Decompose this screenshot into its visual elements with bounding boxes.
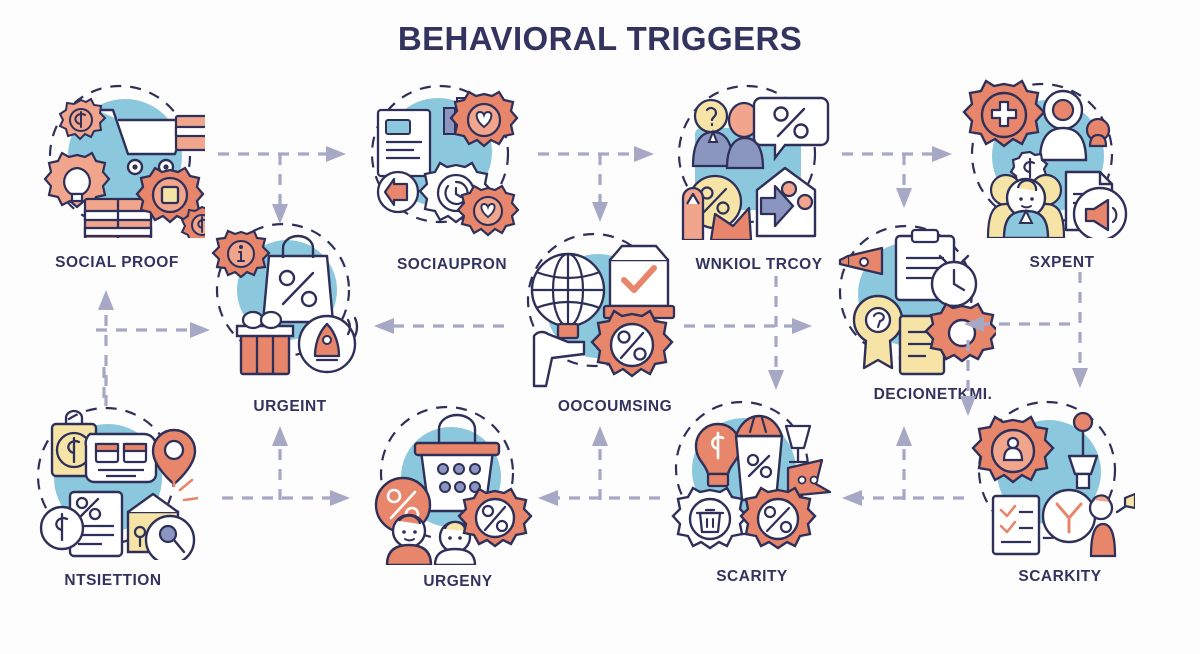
infographic-canvas: BEHAVIORAL TRIGGERS: [0, 0, 1200, 654]
node-social-proof[interactable]: SOCIAL PROOF: [35, 78, 205, 238]
gear-person-doc-axe-icon: [965, 400, 1135, 560]
node-label: URGENY: [343, 573, 573, 591]
node-ntsiettion[interactable]: NTSIETTION: [28, 400, 198, 560]
basket-percent-people-icon: [365, 405, 535, 565]
arrow-decionetkmi-to-right-left: [962, 316, 1072, 332]
node-label: NTSIETTION: [0, 572, 228, 590]
arrow-row1-down-to-decionetkmi: [896, 154, 912, 210]
arrow-sxpent-down: [1072, 272, 1088, 390]
bulb-cart-percent-gear-icon: [662, 400, 832, 560]
arrow-scarkity-up: [896, 424, 912, 502]
node-urgeny[interactable]: URGENY: [365, 405, 535, 565]
document-heart-gear-icon: [360, 80, 530, 240]
arrow-urgeny-up: [272, 424, 288, 502]
node-sociaupron[interactable]: SOCIAUPRON: [360, 80, 530, 240]
node-scarkity[interactable]: SCARKITY: [965, 400, 1135, 560]
arrow-ntsiettion-up: [96, 352, 112, 400]
cart-gears-money-icon: [35, 78, 205, 238]
wallet-card-pin-receipt-icon: [28, 400, 198, 560]
gear-person-megaphone-icon: [960, 78, 1130, 238]
node-label: SCARITY: [637, 568, 867, 586]
node-label: SOCIAL PROOF: [2, 254, 232, 272]
node-urgeint[interactable]: URGEINT: [205, 222, 375, 382]
node-label: SCARKITY: [945, 568, 1175, 586]
arrow-oocoumsing-to-urgeint: [372, 318, 506, 334]
arrow-into-urgeint-right: [96, 322, 212, 338]
node-scarity[interactable]: SCARITY: [662, 400, 832, 560]
node-oocoumsing[interactable]: OOCOUMSING: [512, 228, 682, 388]
node-wnkioltrcoy[interactable]: WNKIOL TRCOY: [665, 80, 835, 240]
people-percent-speech-icon: [665, 80, 835, 240]
node-sxpent[interactable]: SXPENT: [960, 78, 1130, 238]
arrow-oocoumsing-up: [768, 276, 784, 392]
arrow-row1-down-to-oocoumsing: [592, 154, 608, 224]
page-title: BEHAVIORAL TRIGGERS: [0, 20, 1200, 58]
globe-check-percent-gear-icon: [512, 228, 682, 388]
arrow-oocoumsing-to-decionetkmi: [684, 318, 814, 334]
arrow-scarity-up: [592, 424, 608, 502]
arrow-decionetkmi-down: [960, 340, 976, 418]
arrow-row1-down-to-urgeint: [272, 154, 288, 226]
gift-percent-rocket-icon: [205, 222, 375, 382]
